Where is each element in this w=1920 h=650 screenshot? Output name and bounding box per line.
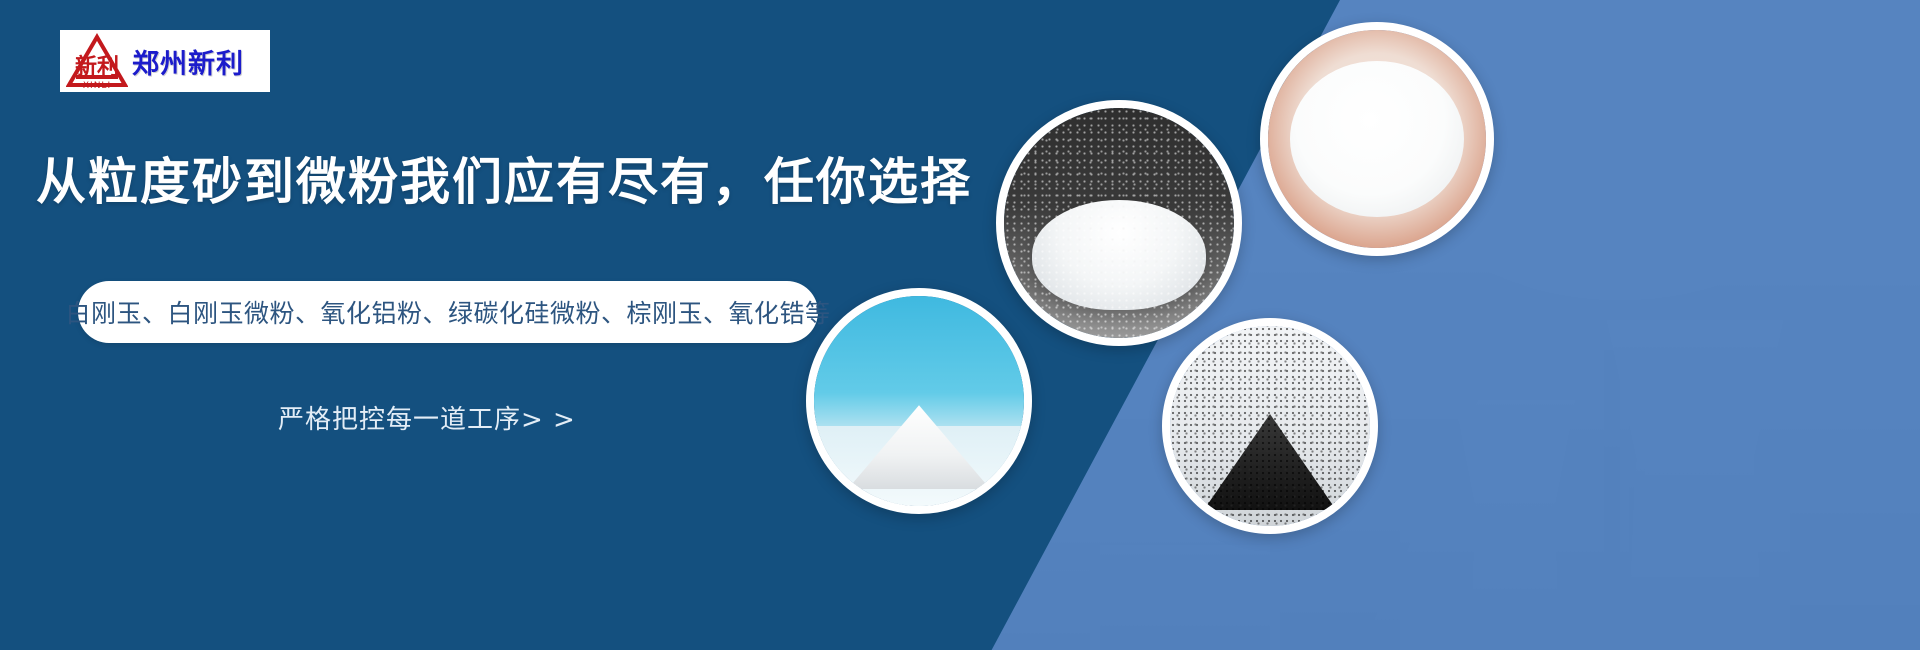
promo-banner: 新利 XINLI 郑州新利 从粒度砂到微粉我们应有尽有，任你选择 白刚玉、白刚玉… — [0, 0, 1920, 650]
product-photo-white-powder-cone-sky — [806, 288, 1032, 514]
company-logo[interactable]: 新利 XINLI 郑州新利 — [60, 30, 270, 92]
xinli-triangle-icon: 新利 XINLI — [66, 32, 128, 90]
product-photo-white-fused-alumina-grit — [996, 100, 1242, 346]
hero-headline: 从粒度砂到微粉我们应有尽有，任你选择 — [36, 142, 972, 214]
product-list-pill: 白刚玉、白刚玉微粉、氧化铝粉、绿碳化硅微粉、棕刚玉、氧化锆等 — [78, 281, 818, 343]
product-photo-alumina-micro-powder-dish — [1260, 22, 1494, 256]
hero-subline[interactable]: 严格把控每一道工序> > — [278, 399, 576, 436]
grain-texture — [1004, 108, 1234, 338]
material-heap — [1290, 61, 1464, 218]
svg-text:新利: 新利 — [75, 54, 119, 80]
svg-text:XINLI: XINLI — [83, 81, 111, 90]
product-photo-green-silicon-carbide-grit — [1162, 318, 1378, 534]
product-list-text: 白刚玉、白刚玉微粉、氧化铝粉、绿碳化硅微粉、棕刚玉、氧化锆等 — [66, 294, 831, 330]
grain-texture — [1170, 326, 1370, 526]
company-name: 郑州新利 — [132, 42, 244, 81]
